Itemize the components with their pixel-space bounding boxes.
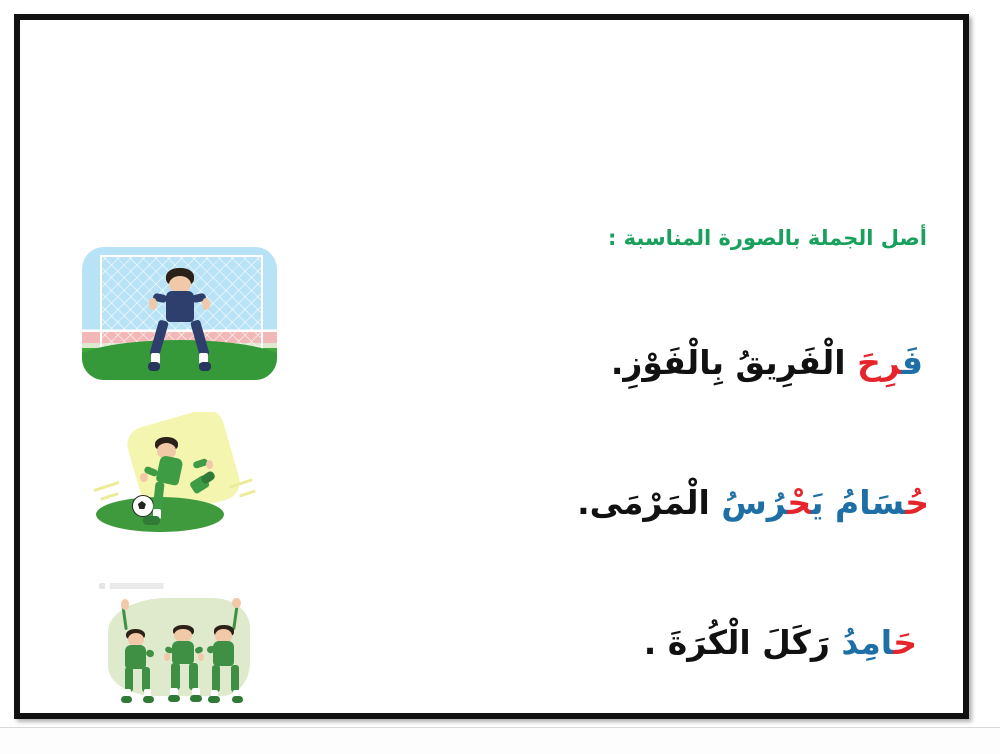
sentence-segment: رُسُ <box>721 483 787 522</box>
sentence-segment: الْفَرِيقُ بِالْفَوْزِ. <box>611 343 857 382</box>
sentence-segment: حَ <box>893 623 917 662</box>
sentence-segment: رِحَ <box>857 343 901 382</box>
sentence-segment: امِدُ <box>841 623 893 662</box>
goalkeeper-illustration[interactable] <box>82 247 277 380</box>
goalkeeper-figure <box>152 268 207 372</box>
sentence-segment: سَامُ <box>835 483 905 522</box>
motion-line <box>100 492 119 501</box>
worksheet-page: أصل الجملة بالصورة المناسبة : فَرِحَ الْ… <box>0 0 1000 754</box>
sentence-item[interactable]: حُسَامُ يَحْرُسُ الْمَرْمَى. <box>577 482 929 525</box>
page-bottom-edge <box>0 727 1000 754</box>
celebrating-player-figure <box>165 625 202 705</box>
sentence-segment: رَكَلَ الْكُرَةَ . <box>644 623 842 662</box>
kicking-player-figure <box>151 437 202 527</box>
sentence-segment: حْ <box>787 483 811 522</box>
prompt-heading: أصل الجملة بالصورة المناسبة : <box>608 226 927 250</box>
team-celebration-illustration[interactable] <box>94 582 264 713</box>
motion-line <box>93 480 120 491</box>
sentence-segment: فَ <box>901 343 923 382</box>
motion-line <box>239 489 256 497</box>
slide-content-area: أصل الجملة بالصورة المناسبة : فَرِحَ الْ… <box>20 20 963 713</box>
sentence-item[interactable]: حَامِدُ رَكَلَ الْكُرَةَ . <box>644 622 917 665</box>
sentence-segment: حُ <box>905 483 929 522</box>
player-kicking-ball-illustration[interactable] <box>86 412 256 537</box>
watermark-artifact <box>99 583 174 589</box>
celebrating-player-figure <box>206 614 243 704</box>
sentence-item[interactable]: فَرِحَ الْفَرِيقُ بِالْفَوْزِ. <box>611 342 923 385</box>
sentence-segment: الْمَرْمَى. <box>577 483 721 522</box>
sentence-segment: يَ <box>811 483 835 522</box>
slide-frame: أصل الجملة بالصورة المناسبة : فَرِحَ الْ… <box>14 14 969 719</box>
text-column: أصل الجملة بالصورة المناسبة : فَرِحَ الْ… <box>387 20 947 713</box>
celebrating-player-figure <box>118 617 155 705</box>
